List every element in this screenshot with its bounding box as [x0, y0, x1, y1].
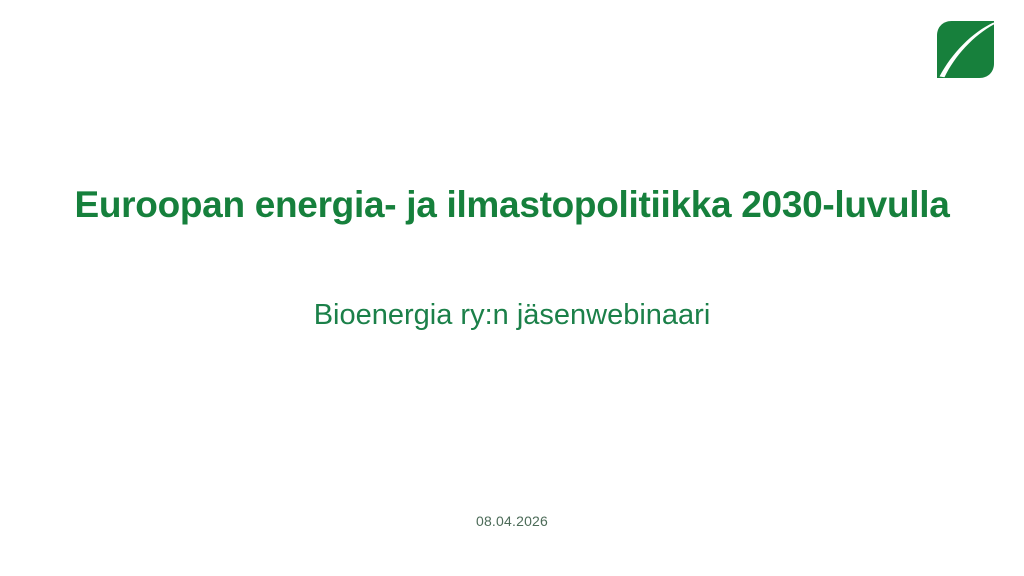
slide-title: Euroopan energia- ja ilmastopolitiikka 2… — [0, 182, 1024, 227]
subtitle-container: Bioenergia ry:n jäsenwebinaari — [0, 297, 1024, 333]
brand-logo — [936, 20, 995, 79]
leaf-icon — [936, 20, 995, 79]
presentation-slide: Euroopan energia- ja ilmastopolitiikka 2… — [0, 0, 1024, 576]
slide-subtitle: Bioenergia ry:n jäsenwebinaari — [0, 297, 1024, 333]
date-container: 08.04.2026 — [0, 513, 1024, 529]
slide-date: 08.04.2026 — [0, 513, 1024, 529]
title-container: Euroopan energia- ja ilmastopolitiikka 2… — [0, 182, 1024, 227]
